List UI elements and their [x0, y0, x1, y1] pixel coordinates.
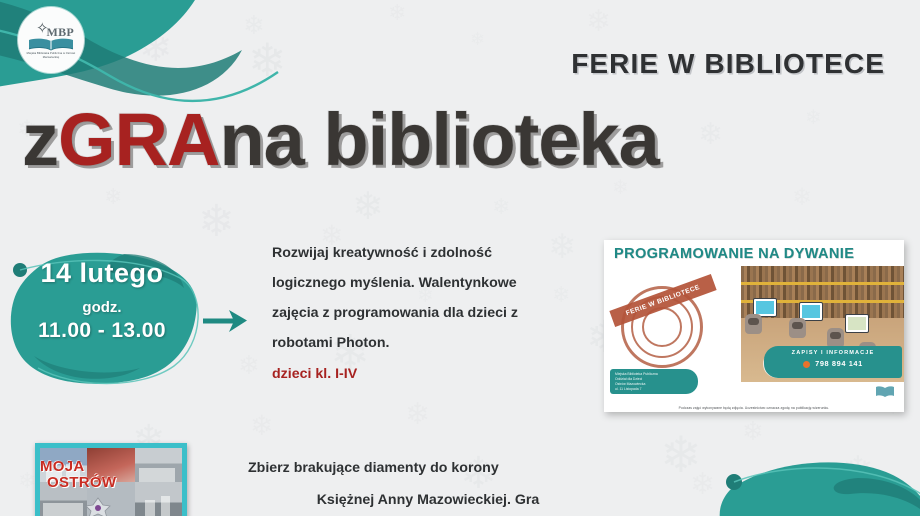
teal-blob-decoration	[690, 438, 920, 516]
snowflake-icon: ❄	[18, 470, 36, 492]
book-title-line-2: OSTRÓW	[47, 475, 116, 491]
snowflake-icon: ❄	[198, 200, 235, 244]
snowflake-icon: ❄	[250, 412, 273, 440]
logo-mark: ✧ MBP	[26, 21, 76, 51]
title-segment-1: GRA	[58, 98, 219, 181]
arrow-right-icon	[203, 306, 251, 336]
second-event-line-2: Księżnej Anny Mazowieckiej. Gra	[248, 484, 608, 516]
eyebrow-heading: FERIE W BIBLIOTECE	[571, 48, 885, 80]
contact-phone-row: 798 894 141	[764, 359, 902, 368]
description-line-4: robotami Photon.	[272, 335, 389, 351]
tablet-icon	[845, 314, 869, 333]
snowflake-icon: ❄	[352, 188, 384, 226]
snowflake-icon: ❄	[586, 7, 611, 37]
description-line-3: zajęcia z programowania dla dzieci z	[272, 305, 518, 321]
title-segment-2: na biblioteka	[219, 98, 658, 181]
open-book-icon	[28, 38, 74, 51]
collage-tile	[135, 482, 182, 516]
snowflake-icon: ❄	[492, 196, 510, 218]
event-time-label: godz.	[4, 299, 200, 316]
photon-robot-icon	[789, 318, 806, 338]
description-text: Rozwijaj kreatywność i zdolność logiczne…	[272, 238, 592, 389]
snowflake-icon: ❄	[388, 2, 406, 24]
promo-contact: ZAPISY I INFORMACJE 798 894 141	[764, 346, 902, 378]
snowflake-icon: ❄	[470, 30, 485, 48]
description-line-1: Rozwijaj kreatywność i zdolność	[272, 245, 492, 261]
mbp-logo: ✧ MBP Miejska Biblioteka Publiczna w Ost…	[18, 7, 84, 73]
promo-address-line: ul. 11 Listopada 7	[615, 387, 693, 392]
photon-robot-icon	[827, 328, 844, 348]
phone-icon	[803, 361, 810, 368]
description-line-2: logicznego myślenia. Walentynkowe	[272, 275, 517, 291]
second-event-text: Zbierz brakujące diamenty do korony Księ…	[248, 452, 608, 516]
promo-card[interactable]: PROGRAMOWANIE NA DYWANIE FERIE W BIBLIOT…	[604, 240, 904, 412]
title-segment-0: z	[22, 98, 58, 181]
poster-canvas: ❄❄❄❄❄❄❄❄❄❄❄❄❄❄❄❄❄❄❄❄❄❄❄❄❄❄❄❄❄❄❄❄❄❄ ✧ MBP…	[0, 0, 920, 516]
audience-label: dzieci kl. I-IV	[272, 359, 592, 389]
promo-footnote: Podczas zajęć wykonywane będą zdjęcia. U…	[604, 406, 904, 410]
city-crest-icon	[83, 496, 113, 516]
second-event-line-1: Zbierz brakujące diamenty do korony	[248, 452, 608, 484]
photon-robot-icon	[745, 314, 762, 334]
event-time-range: 11.00 - 13.00	[4, 319, 200, 343]
book-title: MOJA OSTRÓW	[40, 459, 116, 491]
book-title-line-1: MOJA	[40, 458, 85, 475]
promo-address: Miejska Biblioteka PublicznaOddział dla …	[610, 369, 698, 394]
promo-title: PROGRAMOWANIE NA DYWANIE	[614, 246, 898, 262]
phone-number: 798 894 141	[815, 359, 863, 368]
book-cover[interactable]: MOJA OSTRÓW	[35, 443, 187, 516]
contact-label: ZAPISY I INFORMACJE	[764, 350, 902, 356]
logo-caption: Miejska Biblioteka Publiczna w Ostrowi M…	[22, 52, 80, 59]
event-date: 14 lutego	[4, 258, 200, 289]
snowflake-icon: ❄	[405, 400, 430, 430]
snowflake-icon: ❄	[104, 186, 122, 208]
snowflake-icon: ❄	[238, 352, 260, 378]
page-title: zGRAna biblioteka	[22, 98, 906, 182]
snowflake-icon: ❄	[792, 186, 812, 210]
secondary-logo-icon	[875, 384, 895, 400]
collage-tile	[135, 448, 182, 482]
event-date-block: 14 lutego godz. 11.00 - 13.00	[4, 258, 200, 343]
